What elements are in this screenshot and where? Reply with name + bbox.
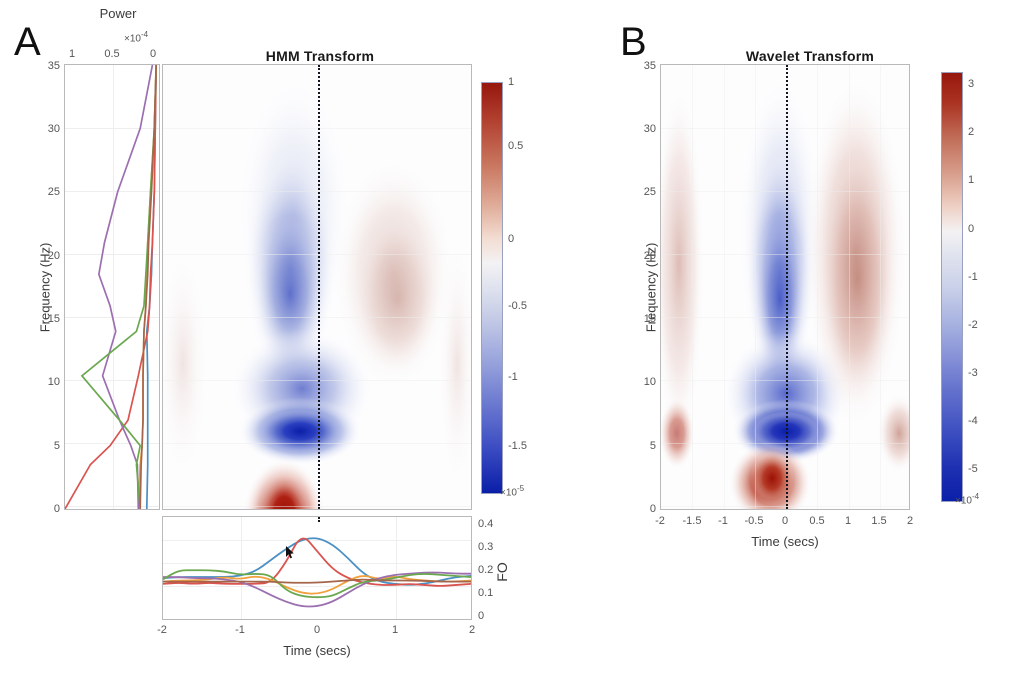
- hmm-cbar-exp-base: ×10: [500, 487, 517, 498]
- panel-b-xtick-05: 0.5: [804, 515, 830, 527]
- wavelet-colorbar[interactable]: [941, 72, 963, 502]
- hmm-cbar-tick-m1: -1: [508, 371, 518, 383]
- panel-b-xtick-2: 2: [900, 515, 920, 527]
- panel-b-xtick-0: 0: [775, 515, 795, 527]
- power-exponent-sup: -4: [141, 30, 148, 39]
- power-xtick-1: 0.5: [100, 48, 124, 60]
- fo-axes[interactable]: [162, 516, 472, 620]
- panel-b-letter: B: [620, 22, 647, 62]
- panel-b-ytick-15: 15: [632, 313, 656, 325]
- panel-a-xtick-2: 2: [462, 624, 482, 636]
- power-xtick-0: 1: [62, 48, 82, 60]
- panel-b-ytick-5: 5: [632, 440, 656, 452]
- panel-b-ytick-10: 10: [632, 376, 656, 388]
- power-trace-state5: [82, 65, 156, 509]
- fo-ytick-04: 0.4: [478, 518, 493, 530]
- wavelet-cbar-tick-m5: -5: [968, 463, 978, 475]
- power-exponent: ×10-4: [124, 30, 148, 44]
- panel-b-xlabel: Time (secs): [705, 534, 865, 549]
- fo-trace-state4: [163, 573, 471, 607]
- panel-b-xtick-m1: -1: [713, 515, 733, 527]
- wavelet-cbar-tick-m3: -3: [968, 367, 978, 379]
- wavelet-cbar-exp-sup: -4: [972, 492, 979, 501]
- wavelet-cbar-tick-0: 0: [968, 223, 974, 235]
- fo-ylabel: FO: [494, 552, 510, 592]
- panel-a-xlabel: Time (secs): [237, 643, 397, 658]
- mouse-pointer-icon: [286, 546, 295, 560]
- panel-b-xtick-m05: -0.5: [741, 515, 767, 527]
- panel-b-title: Wavelet Transform: [690, 48, 930, 64]
- wavelet-event-marker: [786, 65, 788, 509]
- fo-ytick-02: 0.2: [478, 564, 493, 576]
- panel-b-xtick-1: 1: [838, 515, 858, 527]
- panel-a-ytick-25: 25: [36, 186, 60, 198]
- panel-b-xtick-m15: -1.5: [679, 515, 705, 527]
- wavelet-cbar-tick-m2: -2: [968, 319, 978, 331]
- hmm-event-marker: [318, 65, 320, 509]
- panel-b-ylabel: Frequency (Hz): [644, 228, 659, 348]
- panel-a-xtick-m1: -1: [230, 624, 250, 636]
- panel-b-ytick-35: 35: [632, 60, 656, 72]
- power-spectra-traces: [65, 65, 159, 509]
- hmm-cbar-tick-05: 0.5: [508, 140, 523, 152]
- wavelet-cbar-exp-base: ×10: [955, 495, 972, 506]
- panel-a-letter: A: [14, 22, 41, 62]
- panel-b-ytick-30: 30: [632, 123, 656, 135]
- fo-event-marker: [318, 516, 320, 522]
- hmm-spectrogram[interactable]: [162, 64, 472, 510]
- hmm-colorbar[interactable]: [481, 82, 503, 494]
- hmm-cbar-tick-m05: -0.5: [508, 300, 527, 312]
- fo-ytick-00: 0: [478, 610, 484, 622]
- wavelet-cbar-tick-2: 2: [968, 126, 974, 138]
- panel-a-ytick-20: 20: [36, 250, 60, 262]
- panel-a-ytick-35: 35: [36, 60, 60, 72]
- hmm-cbar-tick-1: 1: [508, 76, 514, 88]
- panel-b-xtick-15: 1.5: [866, 515, 892, 527]
- panel-a-xtick-1: 1: [385, 624, 405, 636]
- power-xtick-2: 0: [143, 48, 163, 60]
- hmm-cbar-exponent: ×10-5: [500, 484, 524, 498]
- panel-a-ytick-15: 15: [36, 313, 60, 325]
- panel-a-ytick-0: 0: [36, 503, 60, 515]
- panel-a-ylabel: Frequency (Hz): [38, 228, 53, 348]
- power-spectra-axes[interactable]: [64, 64, 160, 510]
- fo-ytick-01: 0.1: [478, 587, 493, 599]
- fo-traces: [163, 517, 471, 619]
- wavelet-cbar-exponent: ×10-4: [955, 492, 979, 506]
- wavelet-cbar-tick-m4: -4: [968, 415, 978, 427]
- panel-a-xtick-m2: -2: [152, 624, 172, 636]
- hmm-cbar-exp-sup: -5: [517, 484, 524, 493]
- power-exponent-base: ×10: [124, 33, 141, 44]
- panel-a-ytick-10: 10: [36, 376, 60, 388]
- power-panel-title: Power: [78, 6, 158, 21]
- fo-ytick-03: 0.3: [478, 541, 493, 553]
- wavelet-cbar-tick-m1: -1: [968, 271, 978, 283]
- wavelet-spectrogram[interactable]: [660, 64, 910, 510]
- hmm-cbar-tick-m15: -1.5: [508, 440, 527, 452]
- panel-b-ytick-20: 20: [632, 250, 656, 262]
- panel-b-ytick-0: 0: [632, 503, 656, 515]
- panel-a-ytick-5: 5: [36, 440, 60, 452]
- panel-a-title: HMM Transform: [170, 48, 470, 64]
- panel-a-xtick-0: 0: [307, 624, 327, 636]
- wavelet-cbar-tick-3: 3: [968, 78, 974, 90]
- panel-b-ytick-25: 25: [632, 186, 656, 198]
- panel-b-xtick-m2: -2: [650, 515, 670, 527]
- hmm-cbar-tick-0: 0: [508, 233, 514, 245]
- wavelet-cbar-tick-1: 1: [968, 174, 974, 186]
- panel-a-ytick-30: 30: [36, 123, 60, 135]
- figure-root: A HMM Transform Power ×10-4 1 0.5 0 Freq…: [0, 0, 1024, 692]
